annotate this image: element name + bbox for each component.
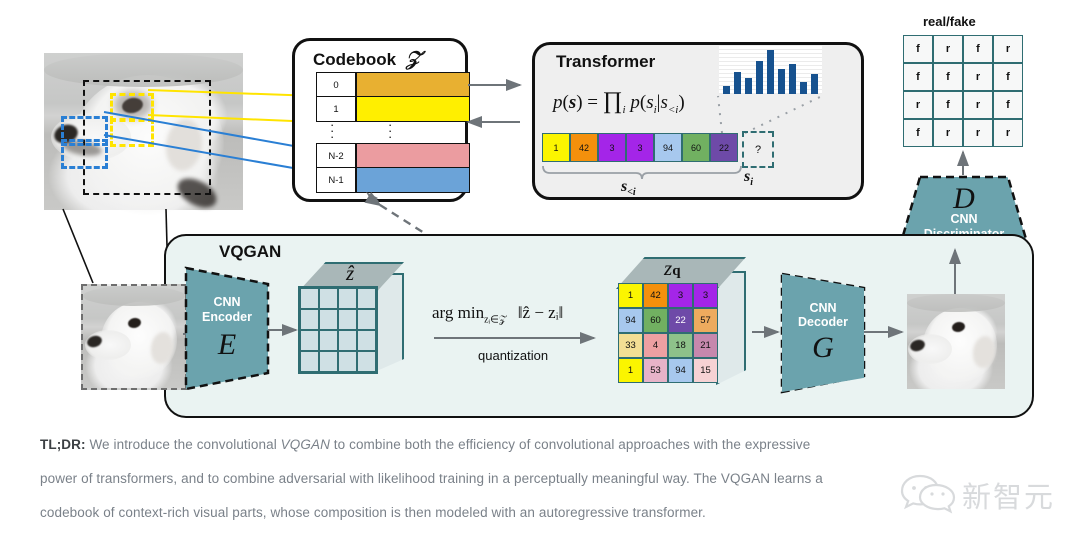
histogram-bar xyxy=(800,82,807,94)
next-token-label: si xyxy=(744,168,753,188)
latent-cell xyxy=(338,330,357,351)
histogram-bar xyxy=(723,86,730,94)
zq-cube-right-face xyxy=(716,271,746,385)
caption-line1-b: to combine both the efficiency of convol… xyxy=(330,437,810,452)
cnn-decoder-block[interactable]: CNN Decoder G xyxy=(782,274,864,392)
codebook-vector-swatch xyxy=(356,167,470,193)
real-fake-cell: r xyxy=(993,35,1023,63)
zq-label: zq xyxy=(664,256,681,281)
yellow-patch-lower xyxy=(110,118,154,147)
real-fake-cell: r xyxy=(903,91,933,119)
real-fake-cell: f xyxy=(933,91,963,119)
latent-cell xyxy=(300,330,319,351)
caption-line-3: codebook of context-rich visual parts, w… xyxy=(40,496,1050,530)
real-fake-cell: f xyxy=(993,63,1023,91)
zq-cell[interactable]: 22 xyxy=(668,308,693,333)
zq-cell[interactable]: 94 xyxy=(618,308,643,333)
codebook-row[interactable]: N-1 xyxy=(316,167,470,193)
zq-cube: zq 1 42 3 3 94 60 22 57 33 4 18 21 1 53 … xyxy=(616,257,752,403)
transformer-title: Transformer xyxy=(556,52,655,72)
latent-cell xyxy=(357,309,376,330)
codebook-index: N-2 xyxy=(316,143,356,169)
zq-cell[interactable]: 15 xyxy=(693,358,718,383)
real-fake-cell: r xyxy=(993,119,1023,147)
histogram-bar xyxy=(734,72,741,94)
caption-line1-em: VQGAN xyxy=(281,437,330,452)
caption-line-1: TL;DR: We introduce the convolutional VQ… xyxy=(40,428,1050,462)
zq-cell[interactable]: 60 xyxy=(643,308,668,333)
photo-bg-small xyxy=(83,286,185,306)
zq-label-main: z xyxy=(664,256,672,280)
reconstructed-image xyxy=(907,294,1005,389)
real-fake-cell: r xyxy=(933,35,963,63)
zq-cell[interactable]: 1 xyxy=(618,358,643,383)
codebook-vector-swatch xyxy=(356,96,470,122)
token[interactable]: 22 xyxy=(710,133,738,162)
real-fake-cell: f xyxy=(963,35,993,63)
encoder-symbol: E xyxy=(218,328,236,362)
zq-cell[interactable]: 1 xyxy=(618,283,643,308)
histogram-bar xyxy=(745,78,752,94)
codebook-row[interactable]: N-2 xyxy=(316,143,470,169)
latent-cell xyxy=(338,351,357,372)
cube-front-face xyxy=(298,286,378,374)
decoder-symbol: G xyxy=(812,331,834,365)
zq-cell[interactable]: 4 xyxy=(643,333,668,358)
encoder-label-line2: Encoder xyxy=(202,310,252,324)
zq-cell[interactable]: 94 xyxy=(668,358,693,383)
real-fake-cell: r xyxy=(963,63,993,91)
zq-cell[interactable]: 18 xyxy=(668,333,693,358)
token-probability-histogram xyxy=(719,46,822,94)
codebook-index: 1 xyxy=(316,96,356,122)
token[interactable]: 3 xyxy=(598,133,626,162)
histogram-bar xyxy=(789,64,796,94)
latent-cell xyxy=(319,330,338,351)
z-hat-cube: ẑ xyxy=(298,262,420,392)
real-fake-cell: f xyxy=(903,35,933,63)
codebook-row[interactable]: 0 xyxy=(316,72,470,98)
histogram-bar xyxy=(778,69,785,94)
real-fake-cell: f xyxy=(933,63,963,91)
codebook-vector-swatch xyxy=(356,143,470,169)
token[interactable]: 3 xyxy=(626,133,654,162)
recon-photo-bg xyxy=(907,294,1005,312)
zq-cell[interactable]: 57 xyxy=(693,308,718,333)
token[interactable]: 42 xyxy=(570,133,598,162)
codebook-symbol: 𝒵 xyxy=(406,48,421,70)
codebook-index: N-1 xyxy=(316,167,356,193)
zq-cell[interactable]: 42 xyxy=(643,283,668,308)
context-label: s<i xyxy=(621,178,636,198)
caption-line-2: power of transformers, and to combine ad… xyxy=(40,462,1050,496)
token-sequence[interactable]: 1 42 3 3 94 60 22 xyxy=(542,133,738,162)
real-fake-grid: f r f r f f r f r f r f f r r r xyxy=(903,35,1023,147)
figure-canvas: Codebook 𝒵 0 1 ··· ··· N-2 N-1 xyxy=(0,0,1080,536)
real-fake-cell: f xyxy=(903,63,933,91)
latent-cell xyxy=(338,288,357,309)
vqgan-panel xyxy=(164,234,1034,418)
latent-cell xyxy=(357,330,376,351)
codebook-vector-swatch xyxy=(356,72,470,98)
latent-cell xyxy=(338,309,357,330)
latent-cell xyxy=(357,288,376,309)
argmin-subscript: zᵢ∈𝒵 xyxy=(484,314,506,325)
real-fake-cell: f xyxy=(903,119,933,147)
discriminator-label-line1: CNN xyxy=(950,212,977,226)
decoder-label-line1: CNN xyxy=(809,301,836,315)
blue-patch-lower xyxy=(61,139,108,169)
latent-cell xyxy=(300,288,319,309)
vqgan-title: VQGAN xyxy=(219,242,281,262)
codebook-row[interactable]: 1 xyxy=(316,96,470,122)
input-image xyxy=(81,284,187,390)
zq-grid[interactable]: 1 42 3 3 94 60 22 57 33 4 18 21 1 53 94 … xyxy=(618,283,718,383)
zq-cell[interactable]: 53 xyxy=(643,358,668,383)
latent-cell xyxy=(300,309,319,330)
codebook-ellipsis: ··· ··· xyxy=(316,122,466,142)
transformer-formula: p(s) = ∏i p(si|s<i) xyxy=(553,88,685,116)
caption-line1-a: We introduce the convolutional xyxy=(86,437,281,452)
latent-cell xyxy=(357,351,376,372)
zq-cell[interactable]: 3 xyxy=(668,283,693,308)
latent-cell xyxy=(319,288,338,309)
discriminator-symbol: D xyxy=(953,182,975,216)
latent-cell xyxy=(319,351,338,372)
histogram-bar xyxy=(811,74,818,94)
latent-cell xyxy=(319,309,338,330)
histogram-bar xyxy=(756,61,763,94)
argmin-text: arg min xyxy=(432,303,484,322)
zq-cell[interactable]: 3 xyxy=(693,283,718,308)
real-fake-cell: r xyxy=(963,91,993,119)
real-fake-cell: r xyxy=(963,119,993,147)
codebook-title: Codebook 𝒵 xyxy=(313,48,421,71)
cnn-encoder-block[interactable]: CNN Encoder E xyxy=(186,268,268,389)
source-image-zoom xyxy=(44,53,243,210)
wechat-icon xyxy=(900,472,956,514)
norm-text: ‖ẑ − zᵢ‖ xyxy=(518,303,564,322)
encoder-label-line1: CNN xyxy=(213,295,240,309)
quantization-formula: arg minzᵢ∈𝒵 ‖ẑ − zᵢ‖ xyxy=(432,303,563,325)
token[interactable]: 60 xyxy=(682,133,710,162)
token[interactable]: 94 xyxy=(654,133,682,162)
decoder-label-line2: Decoder xyxy=(798,315,848,329)
codebook-title-text: Codebook xyxy=(313,50,396,69)
next-token-placeholder: ? xyxy=(755,144,761,156)
zq-label-sub: q xyxy=(672,263,680,279)
real-fake-cell: f xyxy=(993,91,1023,119)
zq-cell[interactable]: 33 xyxy=(618,333,643,358)
codebook-index: 0 xyxy=(316,72,356,98)
token[interactable]: 1 xyxy=(542,133,570,162)
z-hat-label: ẑ xyxy=(346,261,354,286)
next-token-slot[interactable]: ? xyxy=(742,131,774,168)
caption-lead: TL;DR: xyxy=(40,437,86,452)
real-fake-title: real/fake xyxy=(923,14,976,29)
zq-cell[interactable]: 21 xyxy=(693,333,718,358)
real-fake-cell: r xyxy=(933,119,963,147)
watermark-text: 新智元 xyxy=(962,474,1055,516)
histogram-bar xyxy=(767,50,774,94)
latent-cell xyxy=(300,351,319,372)
quantization-caption: quantization xyxy=(478,348,548,363)
